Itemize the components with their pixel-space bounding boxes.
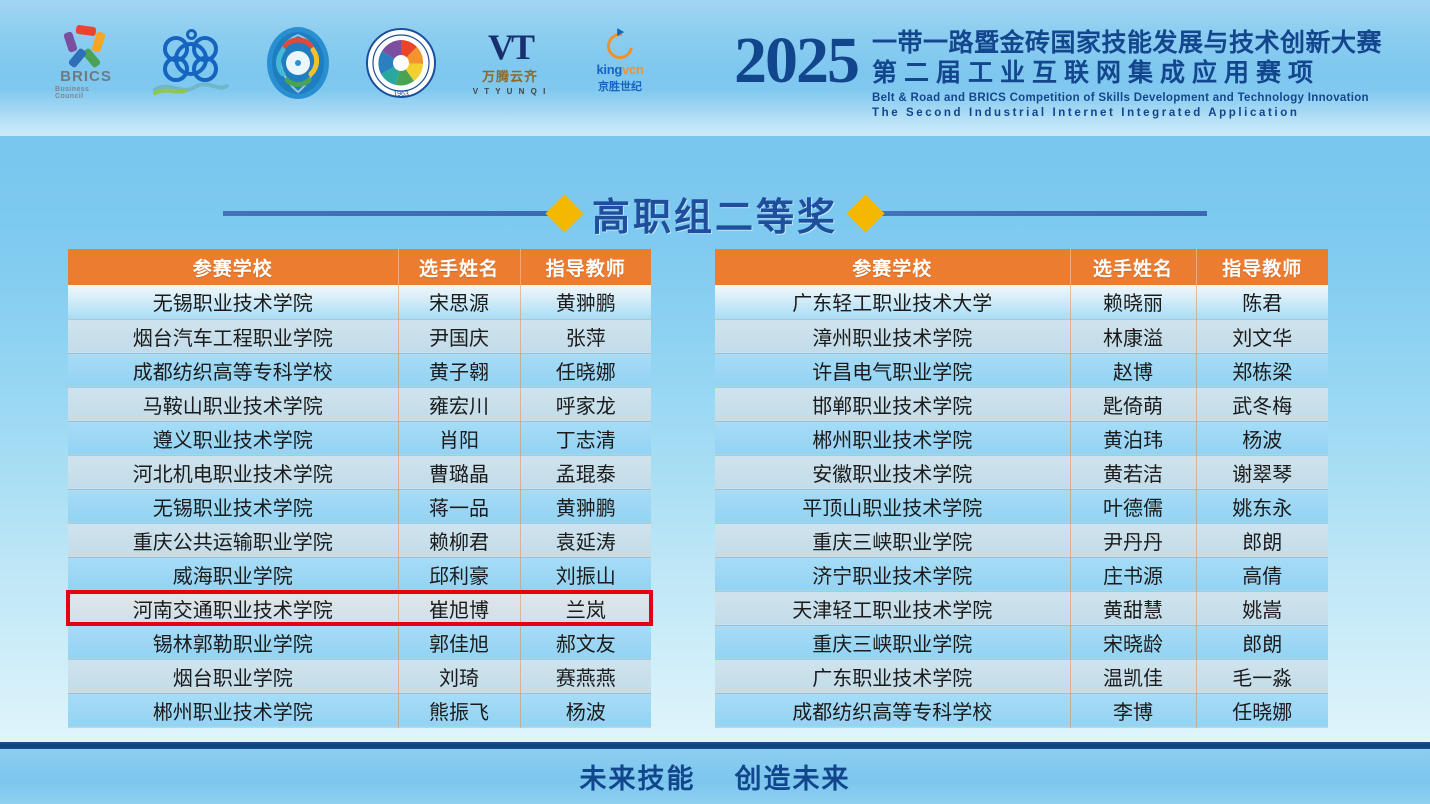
table-row: 无锡职业技术学院宋思源黄翀鹏 <box>68 285 651 319</box>
vtyunqi-logo-title: 万腾云齐 <box>482 66 538 85</box>
table-row: 无锡职业技术学院蒋一品黄翀鹏 <box>68 489 651 523</box>
cell-contestant: 邱利豪 <box>398 557 520 591</box>
cell-advisor: 张萍 <box>520 319 651 353</box>
cell-advisor: 袁延涛 <box>520 523 651 557</box>
cell-school: 平顶山职业技术学院 <box>715 489 1070 523</box>
competition-title-block: 2025 一带一路暨金砖国家技能发展与技术创新大赛 第二届工业互联网集成应用赛项… <box>734 26 1382 121</box>
cell-advisor: 孟琨泰 <box>520 455 651 489</box>
cell-advisor: 任晓娜 <box>1196 693 1328 727</box>
kingvcn-logo-title: kingvcn <box>596 62 643 77</box>
cell-advisor: 刘振山 <box>520 557 651 591</box>
cell-advisor: 黄翀鹏 <box>520 489 651 523</box>
cell-school: 遵义职业技术学院 <box>68 421 398 455</box>
table-row: 河北机电职业技术学院曹璐晶孟琨泰 <box>68 455 651 489</box>
footer-slogan: 未来技能 创造未来 <box>579 757 850 796</box>
wave-icon <box>153 78 229 96</box>
kingvcn-logo: kingvcn 京胜世纪 <box>583 26 657 100</box>
awards-table-right: 参赛学校 选手姓名 指导教师 广东轻工职业技术大学赖晓丽陈君漳州职业技术学院林康… <box>715 249 1328 728</box>
diamond-right-icon <box>846 194 884 232</box>
school-seal-icon: 1963 <box>365 26 437 100</box>
cell-school: 河北机电职业技术学院 <box>68 455 398 489</box>
column-header-contestant: 选手姓名 <box>398 249 520 285</box>
table-header-row: 参赛学校 选手姓名 指导教师 <box>715 249 1328 285</box>
round-emblem-logo <box>265 26 331 100</box>
footer-bar: 未来技能 创造未来 <box>0 749 1430 804</box>
school-seal-year: 1963 <box>393 91 409 98</box>
cell-advisor: 姚嵩 <box>1196 591 1328 625</box>
cell-school: 无锡职业技术学院 <box>68 489 398 523</box>
cell-contestant: 叶德儒 <box>1070 489 1196 523</box>
brics-logo: BRICS Business Council <box>55 26 117 100</box>
table-header-row: 参赛学校 选手姓名 指导教师 <box>68 249 651 285</box>
cell-contestant: 赖柳君 <box>398 523 520 557</box>
table-row: 济宁职业技术学院庄书源高倩 <box>715 557 1328 591</box>
sponsor-logo-row: BRICS Business Council <box>55 26 657 100</box>
table-row: 成都纺织高等专科学校李博任晓娜 <box>715 693 1328 727</box>
cell-advisor: 丁志清 <box>520 421 651 455</box>
cell-contestant: 黄子翱 <box>398 353 520 387</box>
cell-contestant: 蒋一品 <box>398 489 520 523</box>
cell-advisor: 杨波 <box>520 693 651 727</box>
diamond-left-icon <box>545 194 583 232</box>
cell-school: 许昌电气职业学院 <box>715 353 1070 387</box>
table-row: 烟台职业学院刘琦赛燕燕 <box>68 659 651 693</box>
table-row: 重庆三峡职业学院宋晓龄郎朗 <box>715 625 1328 659</box>
vt-monogram-icon: VT <box>488 30 532 64</box>
cell-advisor: 谢翠琴 <box>1196 455 1328 489</box>
cell-school: 郴州职业技术学院 <box>715 421 1070 455</box>
cell-contestant: 李博 <box>1070 693 1196 727</box>
table-row: 烟台汽车工程职业学院尹国庆张萍 <box>68 319 651 353</box>
cell-advisor: 郝文友 <box>520 625 651 659</box>
table-row: 许昌电气职业学院赵博郑栋梁 <box>715 353 1328 387</box>
cell-advisor: 兰岚 <box>520 591 651 625</box>
cell-school: 锡林郭勒职业学院 <box>68 625 398 659</box>
competition-event-cn: 第二届工业互联网集成应用赛项 <box>872 58 1382 89</box>
awards-table-left: 参赛学校 选手姓名 指导教师 无锡职业技术学院宋思源黄翀鹏烟台汽车工程职业学院尹… <box>68 249 651 728</box>
cell-school: 烟台职业学院 <box>68 659 398 693</box>
cell-contestant: 肖阳 <box>398 421 520 455</box>
cell-advisor: 任晓娜 <box>520 353 651 387</box>
cell-school: 天津轻工职业技术学院 <box>715 591 1070 625</box>
table-row: 重庆三峡职业学院尹丹丹郎朗 <box>715 523 1328 557</box>
vtyunqi-logo: VT 万腾云齐 V T Y U N Q I <box>471 26 549 100</box>
cell-advisor: 杨波 <box>1196 421 1328 455</box>
cell-advisor: 刘文华 <box>1196 319 1328 353</box>
cell-contestant: 尹国庆 <box>398 319 520 353</box>
competition-name-en: Belt & Road and BRICS Competition of Ski… <box>872 91 1382 106</box>
cell-contestant: 刘琦 <box>398 659 520 693</box>
cell-school: 郴州职业技术学院 <box>68 693 398 727</box>
table-row: 平顶山职业技术学院叶德儒姚东永 <box>715 489 1328 523</box>
brics-logo-subtitle: Business Council <box>55 86 117 100</box>
cell-contestant: 崔旭博 <box>398 591 520 625</box>
cell-school: 成都纺织高等专科学校 <box>715 693 1070 727</box>
cell-contestant: 赵博 <box>1070 353 1196 387</box>
cell-school: 济宁职业技术学院 <box>715 557 1070 591</box>
cell-contestant: 温凯佳 <box>1070 659 1196 693</box>
cell-school: 无锡职业技术学院 <box>68 285 398 319</box>
table-row: 马鞍山职业技术学院雍宏川呼家龙 <box>68 387 651 421</box>
cell-contestant: 黄泊玮 <box>1070 421 1196 455</box>
page-title: 高职组二等奖 <box>580 186 850 241</box>
cell-contestant: 黄若洁 <box>1070 455 1196 489</box>
cell-contestant: 匙倚萌 <box>1070 387 1196 421</box>
cell-advisor: 姚东永 <box>1196 489 1328 523</box>
table-row: 河南交通职业技术学院崔旭博兰岚 <box>68 591 651 625</box>
brics-logo-title: BRICS <box>60 70 112 84</box>
round-emblem-icon <box>265 26 331 100</box>
cell-school: 成都纺织高等专科学校 <box>68 353 398 387</box>
competition-year: 2025 <box>734 26 858 96</box>
cell-school: 邯郸职业技术学院 <box>715 387 1070 421</box>
cell-school: 重庆公共运输职业学院 <box>68 523 398 557</box>
cell-contestant: 郭佳旭 <box>398 625 520 659</box>
column-header-school: 参赛学校 <box>715 249 1070 285</box>
table-row: 成都纺织高等专科学校黄子翱任晓娜 <box>68 353 651 387</box>
footer-slogan-left: 未来技能 <box>579 764 695 794</box>
cell-school: 漳州职业技术学院 <box>715 319 1070 353</box>
cell-advisor: 赛燕燕 <box>520 659 651 693</box>
footer-divider <box>0 742 1430 749</box>
cell-contestant: 赖晓丽 <box>1070 285 1196 319</box>
cell-contestant: 曹璐晶 <box>398 455 520 489</box>
kingvcn-logo-subtitle: 京胜世纪 <box>598 78 642 94</box>
cell-advisor: 高倩 <box>1196 557 1328 591</box>
cell-contestant: 雍宏川 <box>398 387 520 421</box>
cell-school: 广东轻工职业技术大学 <box>715 285 1070 319</box>
cell-school: 安徽职业技术学院 <box>715 455 1070 489</box>
cell-advisor: 呼家龙 <box>520 387 651 421</box>
cell-advisor: 陈君 <box>1196 285 1328 319</box>
cell-school: 马鞍山职业技术学院 <box>68 387 398 421</box>
competition-name-cn: 一带一路暨金砖国家技能发展与技术创新大赛 <box>872 28 1382 58</box>
header-band: BRICS Business Council <box>0 0 1430 136</box>
school-seal-logo: 1963 <box>365 26 437 100</box>
cell-school: 重庆三峡职业学院 <box>715 523 1070 557</box>
title-rule-right <box>877 211 1207 216</box>
footer-slogan-right: 创造未来 <box>735 764 851 794</box>
cell-contestant: 黄甜慧 <box>1070 591 1196 625</box>
cell-contestant: 熊振飞 <box>398 693 520 727</box>
knot-emblem-logo <box>151 26 231 100</box>
kingvcn-arc-icon <box>602 27 638 63</box>
table-row: 漳州职业技术学院林康溢刘文华 <box>715 319 1328 353</box>
table-row: 安徽职业技术学院黄若洁谢翠琴 <box>715 455 1328 489</box>
brics-pentagon-icon <box>63 26 109 68</box>
column-header-advisor: 指导教师 <box>1196 249 1328 285</box>
cell-advisor: 郑栋梁 <box>1196 353 1328 387</box>
table-row: 威海职业学院邱利豪刘振山 <box>68 557 651 591</box>
column-header-advisor: 指导教师 <box>520 249 651 285</box>
cell-advisor: 武冬梅 <box>1196 387 1328 421</box>
cell-advisor: 郎朗 <box>1196 523 1328 557</box>
cell-school: 威海职业学院 <box>68 557 398 591</box>
cell-school: 广东职业技术学院 <box>715 659 1070 693</box>
vtyunqi-logo-subtitle: V T Y U N Q I <box>473 87 548 96</box>
column-header-school: 参赛学校 <box>68 249 398 285</box>
cell-school: 烟台汽车工程职业学院 <box>68 319 398 353</box>
cell-contestant: 林康溢 <box>1070 319 1196 353</box>
cell-contestant: 宋思源 <box>398 285 520 319</box>
cell-contestant: 宋晓龄 <box>1070 625 1196 659</box>
table-row: 郴州职业技术学院黄泊玮杨波 <box>715 421 1328 455</box>
table-row: 郴州职业技术学院熊振飞杨波 <box>68 693 651 727</box>
title-rule-left <box>223 211 553 216</box>
section-title-bar: 高职组二等奖 <box>0 182 1430 244</box>
table-row: 广东轻工职业技术大学赖晓丽陈君 <box>715 285 1328 319</box>
cell-contestant: 尹丹丹 <box>1070 523 1196 557</box>
table-row: 广东职业技术学院温凯佳毛一淼 <box>715 659 1328 693</box>
cell-advisor: 黄翀鹏 <box>520 285 651 319</box>
competition-event-en: The Second Industrial Internet Integrate… <box>872 106 1382 121</box>
cell-school: 河南交通职业技术学院 <box>68 591 398 625</box>
column-header-contestant: 选手姓名 <box>1070 249 1196 285</box>
table-row: 天津轻工职业技术学院黄甜慧姚嵩 <box>715 591 1328 625</box>
table-body-left: 无锡职业技术学院宋思源黄翀鹏烟台汽车工程职业学院尹国庆张萍成都纺织高等专科学校黄… <box>68 285 651 727</box>
cell-advisor: 郎朗 <box>1196 625 1328 659</box>
table-row: 重庆公共运输职业学院赖柳君袁延涛 <box>68 523 651 557</box>
table-body-right: 广东轻工职业技术大学赖晓丽陈君漳州职业技术学院林康溢刘文华许昌电气职业学院赵博郑… <box>715 285 1328 727</box>
cell-contestant: 庄书源 <box>1070 557 1196 591</box>
cell-school: 重庆三峡职业学院 <box>715 625 1070 659</box>
cell-advisor: 毛一淼 <box>1196 659 1328 693</box>
table-row: 邯郸职业技术学院匙倚萌武冬梅 <box>715 387 1328 421</box>
table-row: 锡林郭勒职业学院郭佳旭郝文友 <box>68 625 651 659</box>
table-row: 遵义职业技术学院肖阳丁志清 <box>68 421 651 455</box>
